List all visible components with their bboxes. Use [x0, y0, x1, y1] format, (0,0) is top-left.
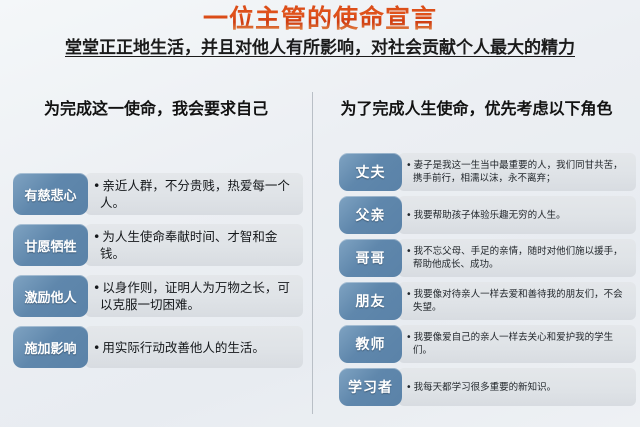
item-text: 妻子是我这一生当中最重要的人，我们同甘共苦，携手前行，相濡以沫，永不离弃；	[406, 159, 626, 185]
list-item[interactable]: 父亲 我要帮助孩子体验乐趣无穷的人生。	[339, 196, 636, 234]
list-item[interactable]: 哥哥 我不忘父母、手足的亲情，随时对他们施以援手，帮助他成长、成功。	[339, 239, 636, 277]
item-label-chip: 施加影响	[13, 326, 88, 368]
item-body: 用实际行动改善他人的生活。	[85, 326, 303, 368]
item-text: 我要像爱自己的亲人一样去关心和爱护我的学生们。	[406, 331, 626, 357]
item-text: 我要像对待亲人一样去爱和善待我的朋友们，不会失望。	[406, 288, 626, 314]
page-subtitle: 堂堂正正地生活，并且对他人有所影响，对社会贡献个人最大的精力	[0, 36, 640, 60]
left-column: 为完成这一使命，我会要求自己 有慈悲心 亲近人群，不分贵贱，热爱每一个人。 甘愿…	[0, 92, 312, 120]
slide-canvas: 一位主管的使命宣言 堂堂正正地生活，并且对他人有所影响，对社会贡献个人最大的精力…	[0, 0, 640, 427]
left-item-list: 有慈悲心 亲近人群，不分贵贱，热爱每一个人。 甘愿牺牲 为人生使命奉献时间、才智…	[13, 173, 303, 377]
left-column-heading: 为完成这一使命，我会要求自己	[0, 92, 312, 120]
item-label-chip: 有慈悲心	[13, 173, 88, 215]
item-body: 我每天都学习很多重要的新知识。	[398, 368, 636, 406]
list-item[interactable]: 激励他人 以身作则，证明人为万物之长，可以克服一切困难。	[13, 275, 303, 317]
item-text: 以身作则，证明人为万物之长，可以克服一切困难。	[93, 279, 293, 313]
item-body: 我要帮助孩子体验乐趣无穷的人生。	[398, 196, 636, 234]
item-text: 为人生使命奉献时间、才智和金钱。	[93, 228, 293, 262]
right-column: 为了完成人生使命，优先考虑以下角色 丈夫 妻子是我这一生当中最重要的人，我们同甘…	[313, 92, 640, 120]
item-body: 我不忘父母、手足的亲情，随时对他们施以援手，帮助他成长、成功。	[398, 239, 636, 277]
item-label-chip: 朋友	[339, 282, 402, 320]
item-label-chip: 教师	[339, 325, 402, 363]
item-body: 我要像对待亲人一样去爱和善待我的朋友们，不会失望。	[398, 282, 636, 320]
item-body: 我要像爱自己的亲人一样去关心和爱护我的学生们。	[398, 325, 636, 363]
item-text: 我要帮助孩子体验乐趣无穷的人生。	[406, 209, 566, 222]
item-label-chip: 哥哥	[339, 239, 402, 277]
item-label-chip: 激励他人	[13, 275, 88, 317]
item-text: 我不忘父母、手足的亲情，随时对他们施以援手，帮助他成长、成功。	[406, 245, 626, 271]
item-text: 我每天都学习很多重要的新知识。	[406, 381, 556, 394]
item-body: 亲近人群，不分贵贱，热爱每一个人。	[85, 173, 303, 215]
right-item-list: 丈夫 妻子是我这一生当中最重要的人，我们同甘共苦，携手前行，相濡以沫，永不离弃；…	[339, 153, 636, 406]
item-body: 以身作则，证明人为万物之长，可以克服一切困难。	[85, 275, 303, 317]
list-item[interactable]: 学习者 我每天都学习很多重要的新知识。	[339, 368, 636, 406]
column-divider	[312, 92, 313, 414]
item-label-chip: 学习者	[339, 368, 402, 406]
item-label-chip: 父亲	[339, 196, 402, 234]
item-label-chip: 甘愿牺牲	[13, 224, 88, 266]
list-item[interactable]: 甘愿牺牲 为人生使命奉献时间、才智和金钱。	[13, 224, 303, 266]
item-label-chip: 丈夫	[339, 153, 402, 191]
list-item[interactable]: 朋友 我要像对待亲人一样去爱和善待我的朋友们，不会失望。	[339, 282, 636, 320]
list-item[interactable]: 教师 我要像爱自己的亲人一样去关心和爱护我的学生们。	[339, 325, 636, 363]
list-item[interactable]: 有慈悲心 亲近人群，不分贵贱，热爱每一个人。	[13, 173, 303, 215]
item-body: 妻子是我这一生当中最重要的人，我们同甘共苦，携手前行，相濡以沫，永不离弃；	[398, 153, 636, 191]
right-column-heading: 为了完成人生使命，优先考虑以下角色	[313, 92, 640, 120]
page-title: 一位主管的使命宣言	[0, 4, 640, 34]
item-text: 用实际行动改善他人的生活。	[93, 339, 265, 356]
item-body: 为人生使命奉献时间、才智和金钱。	[85, 224, 303, 266]
list-item[interactable]: 施加影响 用实际行动改善他人的生活。	[13, 326, 303, 368]
list-item[interactable]: 丈夫 妻子是我这一生当中最重要的人，我们同甘共苦，携手前行，相濡以沫，永不离弃；	[339, 153, 636, 191]
item-text: 亲近人群，不分贵贱，热爱每一个人。	[93, 177, 293, 211]
